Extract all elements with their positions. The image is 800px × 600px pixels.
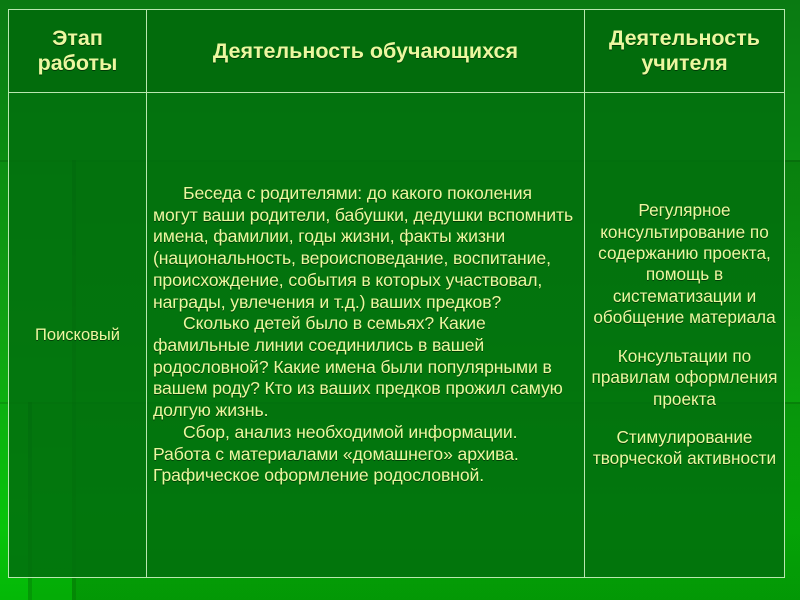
table-row: Поисковый Беседа с родителями: до какого… <box>9 93 785 578</box>
content-table: Этапработы Деятельность обучающихся Деят… <box>8 9 785 578</box>
students-paragraph-1: Беседа с родителями: до какого поколения… <box>153 183 578 313</box>
students-paragraph-3: Сбор, анализ необходимой информации. Раб… <box>153 422 578 487</box>
slide-canvas: Этапработы Деятельность обучающихся Деят… <box>0 0 800 600</box>
cell-teacher-activity: Регулярное консультирование по содержани… <box>585 93 785 578</box>
header-cell-teacher: Деятельностьучителя <box>585 10 785 93</box>
teacher-paragraph-3: Стимулирование творческой активности <box>591 427 778 470</box>
content-table-wrapper: Этапработы Деятельность обучающихся Деят… <box>8 9 784 575</box>
teacher-paragraph-2: Консультации по правилам оформления прое… <box>591 346 778 410</box>
header-cell-students: Деятельность обучающихся <box>147 10 585 93</box>
header-cell-stage: Этапработы <box>9 10 147 93</box>
teacher-paragraph-1: Регулярное консультирование по содержани… <box>591 200 778 328</box>
cell-students-activity: Беседа с родителями: до какого поколения… <box>147 93 585 578</box>
students-paragraph-2: Сколько детей было в семьях? Какие фамил… <box>153 313 578 422</box>
table-header-row: Этапработы Деятельность обучающихся Деят… <box>9 10 785 93</box>
cell-stage-name: Поисковый <box>9 93 147 578</box>
